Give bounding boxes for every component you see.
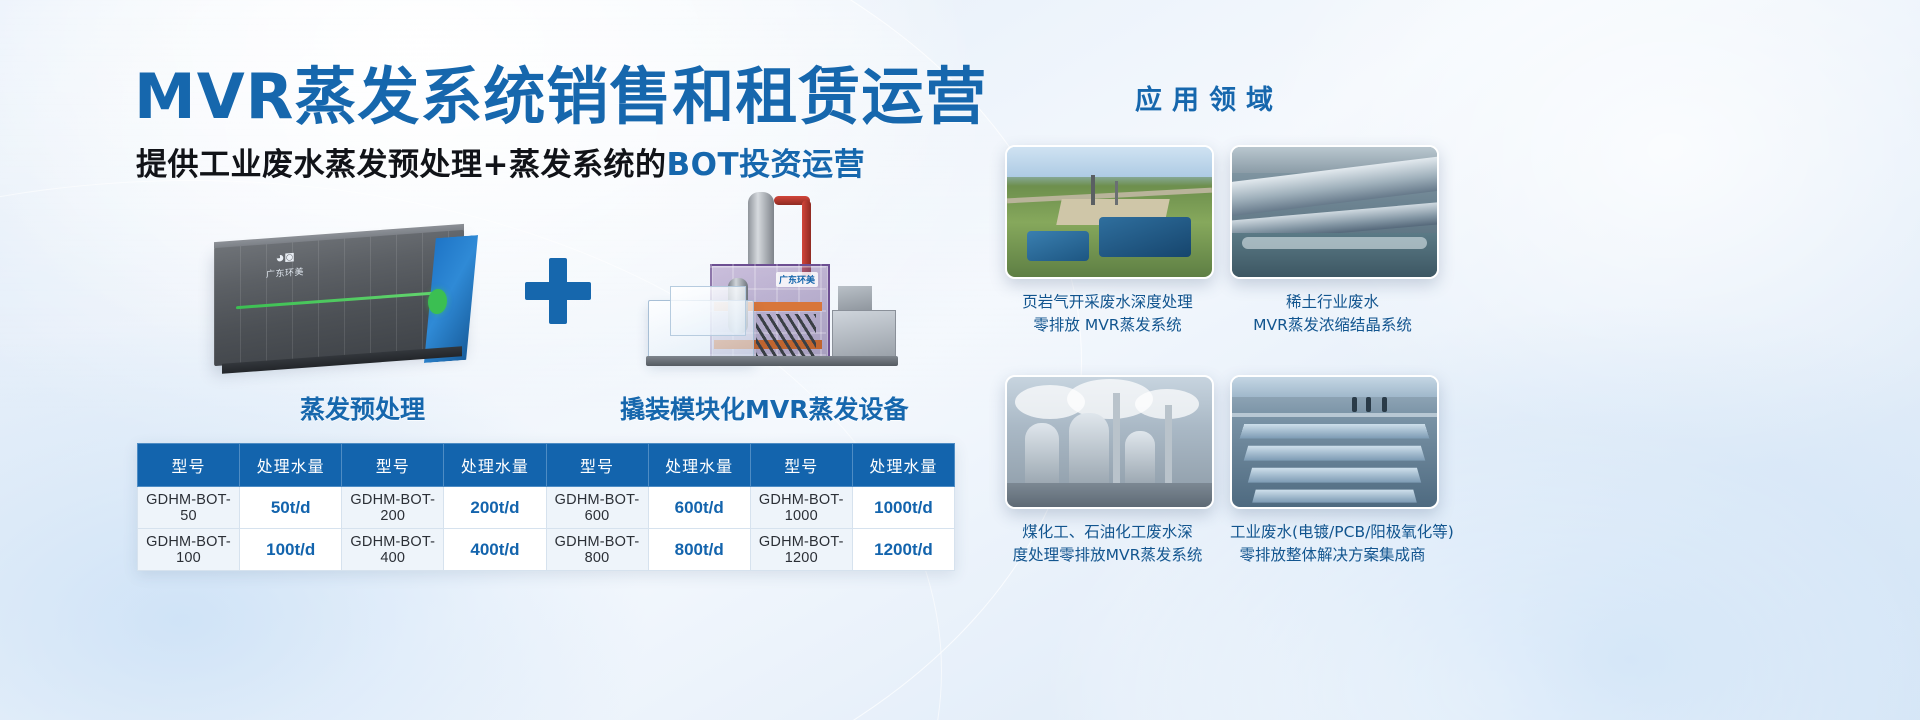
caption-line-2: 零排放 MVR蒸发系统 — [1005, 314, 1210, 337]
cell-capacity: 1000t/d — [852, 487, 954, 529]
cell-capacity: 400t/d — [444, 529, 546, 571]
chimney-stack-2 — [1165, 405, 1172, 485]
walkway-rail — [1232, 413, 1437, 417]
subtitle-highlight-text: BOT投资运营 — [666, 147, 865, 183]
treatment-basin-4 — [1252, 490, 1417, 503]
coal-chemical-plant-photo — [1005, 375, 1214, 509]
skid-control-box-upper — [838, 286, 872, 312]
treatment-basin-3 — [1248, 468, 1421, 483]
retention-pond-small — [1027, 231, 1089, 261]
skid-platform-base — [646, 356, 898, 366]
chimney-stack-1 — [1113, 393, 1120, 485]
worker-figure-3 — [1382, 397, 1387, 412]
product-image-skid-mvr: 广东环美 — [640, 190, 930, 380]
promo-banner: MVR蒸发系统销售和租赁运营 提供工业废水蒸发预处理+蒸发系统的BOT投资运营 … — [0, 0, 1920, 720]
rare-earth-pipeline-photo — [1230, 145, 1439, 279]
application-card-coal-chemical: 煤化工、石油化工废水深 度处理零排放MVR蒸发系统 — [1005, 375, 1210, 568]
column-header-model-1: 型号 — [138, 444, 240, 487]
spec-table-head: 型号 处理水量 型号 处理水量 型号 处理水量 型号 处理水量 — [138, 444, 955, 487]
skid-clear-tank-back — [670, 286, 746, 336]
cooling-tower-1 — [1025, 423, 1059, 485]
column-header-capacity-3: 处理水量 — [648, 444, 750, 487]
cooling-tower-3 — [1125, 431, 1155, 485]
sky-layer — [1007, 147, 1212, 177]
cell-capacity: 50t/d — [240, 487, 342, 529]
cell-capacity: 600t/d — [648, 487, 750, 529]
skid-control-box — [832, 310, 896, 358]
brand-logo: ◕◙ 广东环美 — [266, 248, 304, 281]
skid-brand-badge: 广东环美 — [776, 272, 818, 287]
left-content-area: MVR蒸发系统销售和租赁运营 提供工业废水蒸发预处理+蒸发系统的BOT投资运营 … — [0, 0, 1000, 720]
caption-line-1: 页岩气开采废水深度处理 — [1005, 291, 1210, 314]
product-image-evaporation-pretreatment: ◕◙ 广东环美 — [200, 225, 500, 375]
cell-capacity: 800t/d — [648, 529, 750, 571]
industrial-wastewater-tanks-photo — [1230, 375, 1439, 509]
product-caption-pretreatment: 蒸发预处理 — [300, 390, 425, 426]
caption-line-2: 度处理零排放MVR蒸发系统 — [1005, 544, 1210, 567]
cell-capacity: 100t/d — [240, 529, 342, 571]
application-card-rare-earth: 稀土行业废水 MVR蒸发浓缩结晶系统 — [1230, 145, 1435, 338]
application-card-caption: 稀土行业废水 MVR蒸发浓缩结晶系统 — [1230, 291, 1435, 338]
retention-pond-large — [1099, 217, 1191, 257]
applications-title: 应用领域 — [1135, 78, 1283, 117]
plus-icon — [525, 258, 591, 324]
caption-line-1: 工业废水(电镀/PCB/阳极氧化等) — [1230, 521, 1435, 544]
cell-model: GDHM-BOT-800 — [546, 529, 648, 571]
sky-layer — [1232, 377, 1437, 397]
application-card-caption: 页岩气开采废水深度处理 零排放 MVR蒸发系统 — [1005, 291, 1210, 338]
application-card-caption: 工业废水(电镀/PCB/阳极氧化等) 零排放整体解决方案集成商 — [1230, 521, 1435, 568]
cell-capacity: 1200t/d — [852, 529, 954, 571]
cell-model: GDHM-BOT-600 — [546, 487, 648, 529]
column-header-capacity-4: 处理水量 — [852, 444, 954, 487]
application-card-caption: 煤化工、石油化工废水深 度处理零排放MVR蒸发系统 — [1005, 521, 1210, 568]
treatment-basin-2 — [1244, 446, 1426, 461]
column-header-capacity-1: 处理水量 — [240, 444, 342, 487]
cell-model: GDHM-BOT-1000 — [750, 487, 852, 529]
table-row: GDHM-BOT-100 100t/d GDHM-BOT-400 400t/d … — [138, 529, 955, 571]
caption-line-2: MVR蒸发浓缩结晶系统 — [1230, 314, 1435, 337]
cell-model: GDHM-BOT-100 — [138, 529, 240, 571]
shale-gas-field-photo — [1005, 145, 1214, 279]
column-header-capacity-2: 处理水量 — [444, 444, 546, 487]
water-foam — [1242, 237, 1427, 249]
cell-model: GDHM-BOT-400 — [342, 529, 444, 571]
cell-model: GDHM-BOT-50 — [138, 487, 240, 529]
column-header-model-3: 型号 — [546, 444, 648, 487]
table-row: GDHM-BOT-50 50t/d GDHM-BOT-200 200t/d GD… — [138, 487, 955, 529]
application-card-industrial-wastewater: 工业废水(电镀/PCB/阳极氧化等) 零排放整体解决方案集成商 — [1230, 375, 1435, 568]
column-header-model-4: 型号 — [750, 444, 852, 487]
cell-model: GDHM-BOT-1200 — [750, 529, 852, 571]
skid-coil-texture — [756, 314, 816, 358]
page-subtitle: 提供工业废水蒸发预处理+蒸发系统的BOT投资运营 — [136, 150, 865, 181]
worker-figure-2 — [1366, 397, 1371, 412]
subtitle-lead-text: 提供工业废水蒸发预处理+蒸发系统的 — [136, 147, 666, 183]
worker-figure-1 — [1352, 397, 1357, 412]
caption-line-1: 煤化工、石油化工废水深 — [1005, 521, 1210, 544]
cooling-tower-2 — [1069, 413, 1109, 485]
drill-rig — [1091, 175, 1095, 205]
product-caption-skid-mvr: 撬装模块化MVR蒸发设备 — [620, 390, 908, 426]
spec-table: 型号 处理水量 型号 处理水量 型号 处理水量 型号 处理水量 GDHM-BOT… — [137, 443, 955, 571]
application-card-shale-gas: 页岩气开采废水深度处理 零排放 MVR蒸发系统 — [1005, 145, 1210, 338]
drill-rig-secondary — [1115, 181, 1118, 205]
treatment-basin-1 — [1240, 424, 1430, 439]
page-title: MVR蒸发系统销售和租赁运营 — [134, 66, 987, 128]
column-header-model-2: 型号 — [342, 444, 444, 487]
ground-layer — [1007, 483, 1212, 507]
cell-model: GDHM-BOT-200 — [342, 487, 444, 529]
cell-capacity: 200t/d — [444, 487, 546, 529]
spec-table-body: GDHM-BOT-50 50t/d GDHM-BOT-200 200t/d GD… — [138, 487, 955, 571]
skid-vertical-tank — [748, 192, 774, 266]
caption-line-2: 零排放整体解决方案集成商 — [1230, 544, 1435, 567]
spec-table-header-row: 型号 处理水量 型号 处理水量 型号 处理水量 型号 处理水量 — [138, 444, 955, 487]
caption-line-1: 稀土行业废水 — [1230, 291, 1435, 314]
